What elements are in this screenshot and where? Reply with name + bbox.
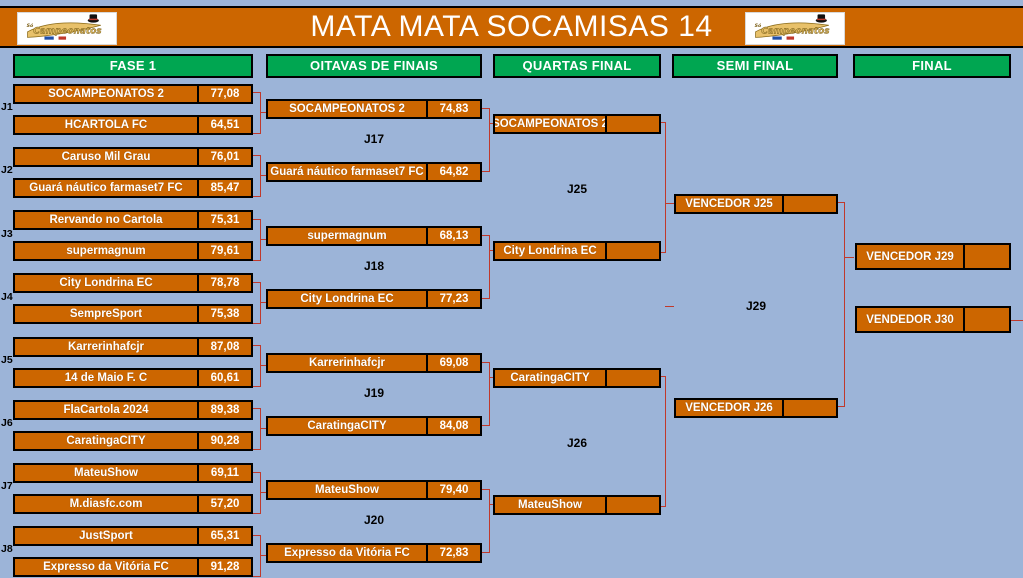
round-header-fase-1: FASE 1 (13, 54, 253, 78)
match-box[interactable]: supermagnum 79,61 (13, 241, 253, 261)
connector-final-champion (1011, 320, 1023, 322)
team-score: 64,51 (197, 117, 251, 133)
team-score: 89,38 (197, 402, 251, 418)
match-box[interactable]: CaratingaCITY 84,08 (266, 416, 482, 436)
logo-artwork: Campeonatos Só (18, 13, 116, 44)
connector-j2 (253, 155, 267, 197)
team-score: 60,61 (197, 370, 251, 386)
team-name: Expresso da Vitória FC (268, 545, 426, 561)
team-name: City Londrina EC (268, 291, 426, 307)
match-code-j3: J3 (1, 228, 13, 240)
team-name: MateuShow (15, 465, 197, 481)
connector-j7 (253, 472, 267, 514)
team-name: Guará náutico farmaset7 FC (15, 180, 197, 196)
match-box[interactable]: CaratingaCITY 90,28 (13, 431, 253, 451)
team-name: VENDEDOR J30 (857, 308, 963, 331)
team-name: Rervando no Cartola (15, 212, 197, 228)
team-name: supermagnum (268, 228, 426, 244)
match-code-j4: J4 (1, 291, 13, 303)
match-box[interactable]: Rervando no Cartola 75,31 (13, 210, 253, 230)
match-box[interactable]: Caruso Mil Grau 76,01 (13, 147, 253, 167)
match-box[interactable]: supermagnum 68,13 (266, 226, 482, 246)
match-box[interactable]: Karrerinhafcjr 87,08 (13, 337, 253, 357)
team-name: CaratingaCITY (268, 418, 426, 434)
team-name: Karrerinhafcjr (268, 355, 426, 371)
team-name: SOCAMPEONATOS 2 (495, 116, 605, 132)
connector-j1 (253, 92, 267, 134)
final-slot-box[interactable]: VENCEDOR J29 (855, 243, 1011, 270)
match-code-j20: J20 (266, 513, 482, 527)
team-name: M.diasfc.com (15, 496, 197, 512)
match-code-j18: J18 (266, 259, 482, 273)
svg-text:Campeonatos: Campeonatos (33, 27, 101, 37)
match-box[interactable]: MateuShow 69,11 (13, 463, 253, 483)
team-score: 68,13 (426, 228, 480, 244)
match-code-j17: J17 (266, 132, 482, 146)
final-slot-box[interactable]: VENDEDOR J30 (855, 306, 1011, 333)
round-header-quartas: QUARTAS FINAL (493, 54, 661, 78)
match-code-j2: J2 (1, 164, 13, 176)
team-score: 77,23 (426, 291, 480, 307)
team-score: 57,20 (197, 496, 251, 512)
match-box[interactable]: SempreSport 75,38 (13, 304, 253, 324)
team-score: 87,08 (197, 339, 251, 355)
page-title: MATA MATA SOCAMISAS 14 (0, 8, 1023, 46)
match-code-j25: J25 (493, 182, 661, 196)
team-score: 64,82 (426, 164, 480, 180)
match-code-j8: J8 (1, 543, 13, 555)
team-score (963, 245, 1009, 268)
match-box[interactable]: SOCAMPEONATOS 2 74,83 (266, 99, 482, 119)
match-code-j6: J6 (1, 417, 13, 429)
match-box[interactable]: HCARTOLA FC 64,51 (13, 115, 253, 135)
team-score: 85,47 (197, 180, 251, 196)
team-name: MateuShow (268, 482, 426, 498)
team-score: 84,08 (426, 418, 480, 434)
team-name: SOCAMPEONATOS 2 (268, 101, 426, 117)
round-header-semi: SEMI FINAL (672, 54, 838, 78)
team-name: HCARTOLA FC (15, 117, 197, 133)
team-name: JustSport (15, 528, 197, 544)
team-score: 69,08 (426, 355, 480, 371)
team-name: City Londrina EC (15, 275, 197, 291)
team-score: 69,11 (197, 465, 251, 481)
match-code-j5: J5 (1, 354, 13, 366)
team-name: SOCAMPEONATOS 2 (15, 86, 197, 102)
team-score: 76,01 (197, 149, 251, 165)
team-name: MateuShow (495, 497, 605, 513)
match-box[interactable]: JustSport 65,31 (13, 526, 253, 546)
team-name: Caruso Mil Grau (15, 149, 197, 165)
team-name: CaratingaCITY (15, 433, 197, 449)
team-score: 79,40 (426, 482, 480, 498)
team-score (782, 400, 836, 416)
so-campeonatos-logo-left: Campeonatos Só (17, 12, 117, 45)
team-name: Guará náutico farmaset7 FC (268, 164, 426, 180)
match-box[interactable]: M.diasfc.com 57,20 (13, 494, 253, 514)
match-code-j29: J29 (674, 299, 838, 313)
team-score: 91,28 (197, 559, 251, 575)
team-score (782, 196, 836, 212)
match-box[interactable]: VENCEDOR J25 (674, 194, 838, 214)
connector-j5 (253, 345, 267, 387)
team-score (605, 116, 659, 132)
team-name: 14 de Maio F. C (15, 370, 197, 386)
logo-artwork: Campeonatos Só (746, 13, 844, 44)
match-box[interactable]: 14 de Maio F. C 60,61 (13, 368, 253, 388)
team-score (605, 243, 659, 259)
team-score: 78,78 (197, 275, 251, 291)
team-name: VENCEDOR J26 (676, 400, 782, 416)
match-code-j7: J7 (1, 480, 13, 492)
match-box[interactable]: SOCAMPEONATOS 2 (493, 114, 661, 134)
round-header-final: FINAL (853, 54, 1011, 78)
team-score: 90,28 (197, 433, 251, 449)
connector-j4 (253, 282, 267, 324)
team-score (605, 497, 659, 513)
bracket-canvas: MATA MATA SOCAMISAS 14 Campeonatos Só (0, 0, 1023, 578)
team-name: VENCEDOR J25 (676, 196, 782, 212)
connector-j3 (253, 219, 267, 261)
team-score (605, 370, 659, 386)
match-box[interactable]: City Londrina EC 78,78 (13, 273, 253, 293)
team-name: SempreSport (15, 306, 197, 322)
match-box[interactable]: Expresso da Vitória FC 72,83 (266, 543, 482, 563)
team-score: 75,31 (197, 212, 251, 228)
match-box[interactable]: Guará náutico farmaset7 FC 85,47 (13, 178, 253, 198)
match-box[interactable]: CaratingaCITY (493, 368, 661, 388)
team-score: 74,83 (426, 101, 480, 117)
connector-j8 (253, 535, 267, 577)
svg-text:Campeonatos: Campeonatos (761, 27, 829, 37)
match-box[interactable]: City Londrina EC 77,23 (266, 289, 482, 309)
team-score: 65,31 (197, 528, 251, 544)
team-name: Karrerinhafcjr (15, 339, 197, 355)
match-code-j19: J19 (266, 386, 482, 400)
title-bar: MATA MATA SOCAMISAS 14 Campeonatos Só (0, 6, 1023, 48)
team-name: CaratingaCITY (495, 370, 605, 386)
match-box[interactable]: Guará náutico farmaset7 FC 64,82 (266, 162, 482, 182)
match-box[interactable]: MateuShow (493, 495, 661, 515)
team-score: 79,61 (197, 243, 251, 259)
team-score: 75,38 (197, 306, 251, 322)
match-box[interactable]: MateuShow 79,40 (266, 480, 482, 500)
team-score: 72,83 (426, 545, 480, 561)
match-box[interactable]: FlaCartola 2024 89,38 (13, 400, 253, 420)
match-box[interactable]: City Londrina EC (493, 241, 661, 261)
team-name: VENCEDOR J29 (857, 245, 963, 268)
so-campeonatos-logo-right: Campeonatos Só (745, 12, 845, 45)
match-code-j26: J26 (493, 436, 661, 450)
match-box[interactable]: Karrerinhafcjr 69,08 (266, 353, 482, 373)
connector-j6 (253, 408, 267, 450)
team-name: supermagnum (15, 243, 197, 259)
round-header-oitavas: OITAVAS DE FINAIS (266, 54, 482, 78)
team-name: Expresso da Vitória FC (15, 559, 197, 575)
match-box[interactable]: VENCEDOR J26 (674, 398, 838, 418)
team-name: City Londrina EC (495, 243, 605, 259)
match-box[interactable]: Expresso da Vitória FC 91,28 (13, 557, 253, 577)
match-box[interactable]: SOCAMPEONATOS 2 77,08 (13, 84, 253, 104)
team-score (963, 308, 1009, 331)
team-score: 77,08 (197, 86, 251, 102)
match-code-j1: J1 (1, 101, 13, 113)
team-name: FlaCartola 2024 (15, 402, 197, 418)
